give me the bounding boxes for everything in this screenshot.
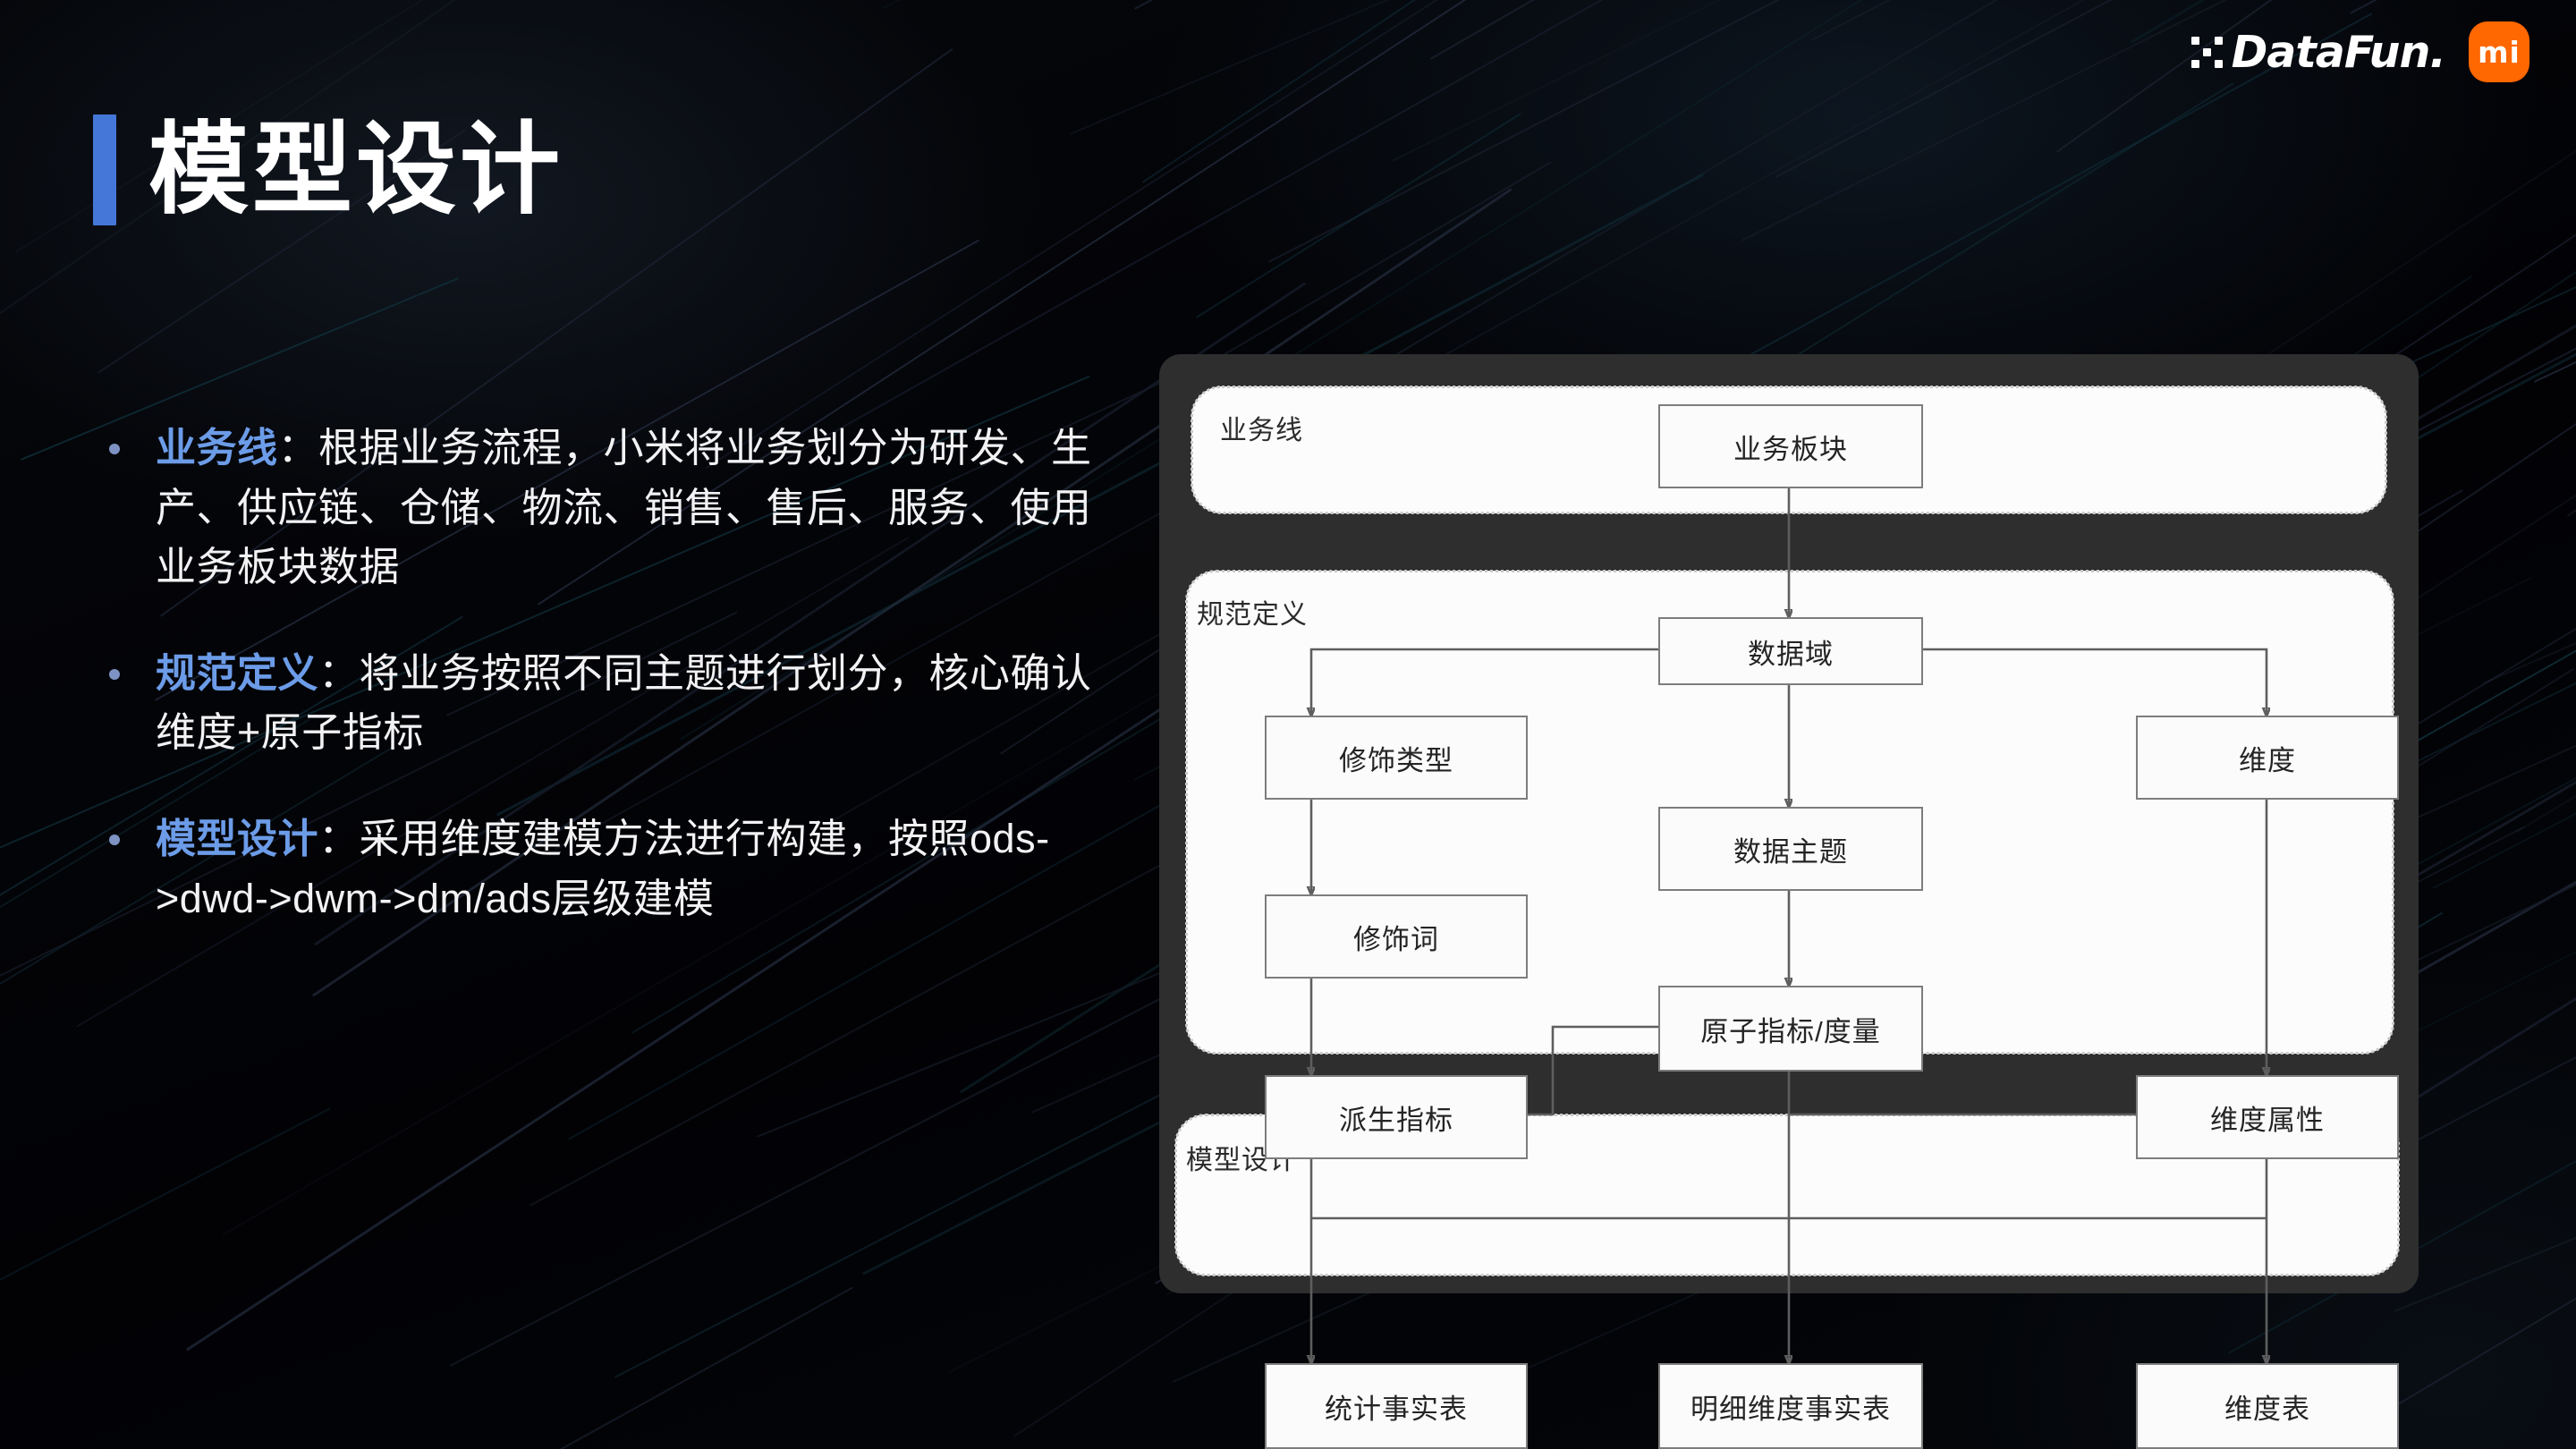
- bullet-separator: ：: [278, 425, 319, 470]
- page-title: 模型设计: [93, 114, 563, 225]
- node-data-subject[interactable]: 数据主题: [1658, 807, 1923, 891]
- bullet-keyword: 业务线: [156, 425, 278, 470]
- node-data-domain[interactable]: 数据域: [1658, 617, 1923, 685]
- node-dimension[interactable]: 维度: [2136, 716, 2399, 800]
- bullet-keyword: 模型设计: [156, 816, 318, 861]
- list-item: 规范定义：将业务按照不同主题进行划分，核心确认维度+原子指标: [109, 644, 1102, 763]
- node-stat-fact-table[interactable]: 统计事实表: [1265, 1363, 1528, 1449]
- bullet-dot-icon: [109, 669, 120, 680]
- bullet-list: 业务线：根据业务流程，小米将业务划分为研发、生产、供应链、仓储、物流、销售、售后…: [109, 419, 1102, 928]
- node-dimension-table[interactable]: 维度表: [2136, 1363, 2399, 1449]
- node-modifier-word[interactable]: 修饰词: [1265, 894, 1528, 979]
- datafun-logo: DataFun.: [2191, 27, 2445, 78]
- architecture-diagram: 业务板块 数据域 修饰类型 修饰词 派生指标 数据主题 原子指标/度量 维度 维…: [1159, 354, 2419, 1293]
- bullet-separator: ：: [318, 650, 360, 696]
- title-accent-bar: [93, 114, 116, 225]
- list-item: 模型设计：采用维度建模方法进行构建，按照ods->dwd->dwm->dm/ad…: [109, 809, 1102, 928]
- bullet-dot-icon: [109, 444, 120, 454]
- panel-label-business-line: 业务线: [1220, 408, 1303, 447]
- bullet-text: 业务线：根据业务流程，小米将业务划分为研发、生产、供应链、仓储、物流、销售、售后…: [156, 419, 1102, 597]
- bullet-keyword: 规范定义: [156, 650, 318, 696]
- bullet-separator: ：: [318, 816, 360, 861]
- node-modifier-type[interactable]: 修饰类型: [1265, 716, 1528, 800]
- slide-canvas: DataFun. mi 模型设计 业务线：根据业务流程，小米将业务划分为研发、生…: [0, 0, 2576, 1449]
- bullet-text: 模型设计：采用维度建模方法进行构建，按照ods->dwd->dwm->dm/ad…: [156, 809, 1102, 928]
- datafun-wordmark: DataFun.: [2232, 27, 2445, 78]
- bullet-text: 规范定义：将业务按照不同主题进行划分，核心确认维度+原子指标: [156, 644, 1102, 763]
- xiaomi-wordmark: mi: [2478, 35, 2521, 70]
- xiaomi-logo: mi: [2469, 21, 2529, 82]
- panel-label-spec-definition: 规范定义: [1197, 592, 1308, 631]
- bullet-dot-icon: [109, 835, 120, 845]
- list-item: 业务线：根据业务流程，小米将业务划分为研发、生产、供应链、仓储、物流、销售、售后…: [109, 419, 1102, 597]
- node-business-sector[interactable]: 业务板块: [1658, 404, 1923, 488]
- datafun-dots-icon: [2191, 37, 2223, 68]
- node-derived-metric[interactable]: 派生指标: [1265, 1075, 1528, 1159]
- logo-group: DataFun. mi: [2191, 21, 2529, 82]
- title-text: 模型设计: [148, 120, 563, 220]
- node-dimension-attribute[interactable]: 维度属性: [2136, 1075, 2399, 1159]
- node-atomic-metric[interactable]: 原子指标/度量: [1658, 986, 1923, 1072]
- node-detail-fact-table[interactable]: 明细维度事实表: [1658, 1363, 1923, 1449]
